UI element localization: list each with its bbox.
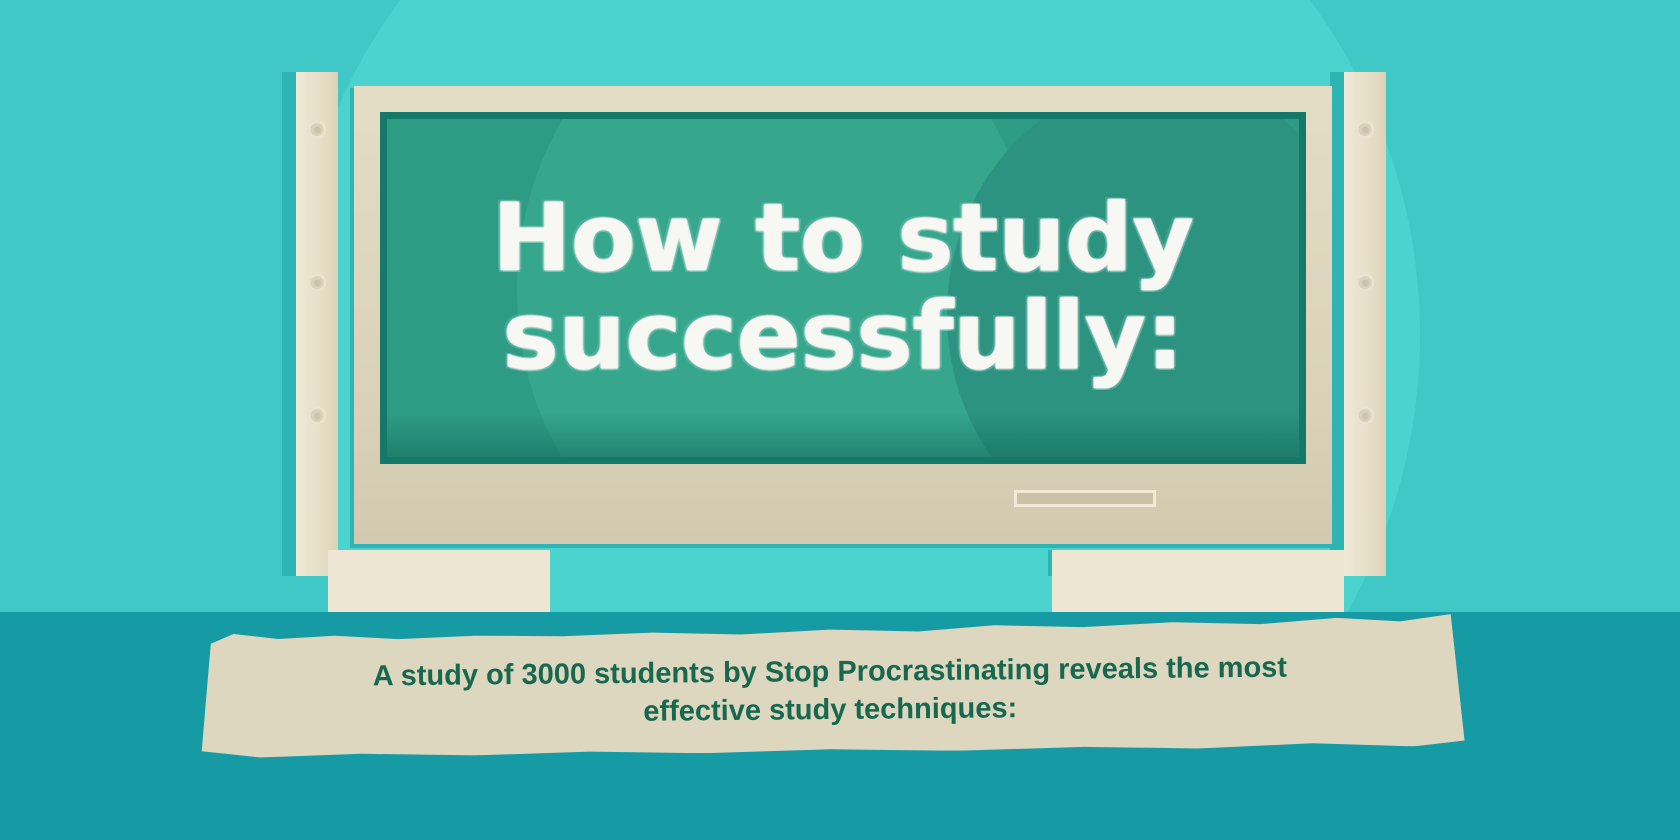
chalkboard: How to study successfully: xyxy=(380,112,1306,464)
screw-icon xyxy=(1356,273,1375,292)
right-support-post xyxy=(1344,72,1386,576)
banner-line-2: effective study techniques: xyxy=(643,689,1017,731)
screw-icon xyxy=(308,273,327,292)
chalkboard-surface: How to study successfully: xyxy=(387,119,1299,457)
left-post-shadow xyxy=(282,72,296,576)
chalk-eraser-icon xyxy=(1014,490,1156,507)
banner-line-1-suffix: students by Stop Procrastinating reveals… xyxy=(586,651,1287,690)
study-size-value: 3000 xyxy=(521,658,586,691)
banner-line-1-prefix: A study of xyxy=(373,659,522,692)
banner: A study of 3000 students by Stop Procras… xyxy=(195,610,1464,758)
infographic-header: How to study successfully: A study of 30… xyxy=(0,0,1680,840)
banner-text: A study of 3000 students by Stop Procras… xyxy=(195,610,1464,758)
screw-icon xyxy=(1356,406,1375,425)
chalkboard-assembly: How to study successfully: xyxy=(296,72,1386,576)
right-leg xyxy=(1052,550,1344,612)
screw-icon xyxy=(308,406,327,425)
left-leg xyxy=(328,550,550,612)
title-line-2: successfully: xyxy=(502,291,1183,383)
banner-line-1: A study of 3000 students by Stop Procras… xyxy=(373,648,1288,695)
page-title: How to study successfully: xyxy=(387,119,1299,457)
screw-icon xyxy=(1356,120,1375,139)
chalkboard-frame: How to study successfully: xyxy=(354,86,1332,544)
screw-icon xyxy=(308,120,327,139)
title-line-1: How to study xyxy=(492,193,1193,285)
left-support-post xyxy=(296,72,338,576)
